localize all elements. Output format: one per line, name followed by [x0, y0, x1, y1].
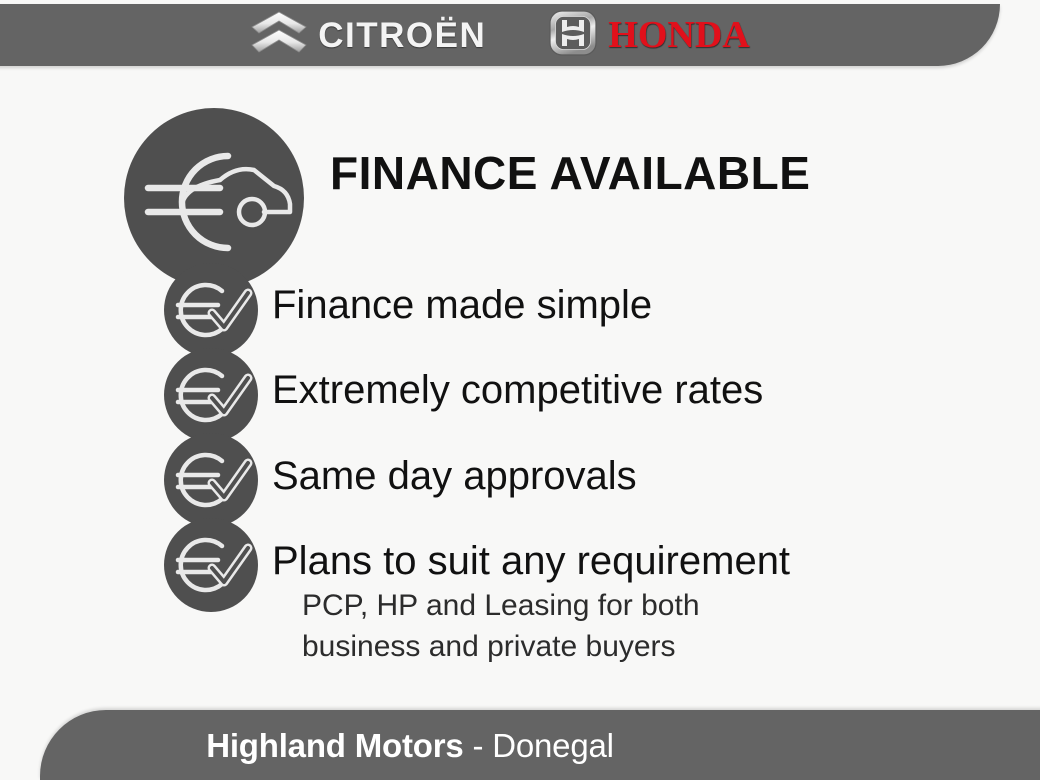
brand-logo-citroen: CITROËN: [250, 10, 486, 61]
finance-available-advert: CITROËN: [0, 0, 1040, 780]
feature-item-label: Extremely competitive rates: [272, 370, 763, 410]
honda-h-emblem-icon: [548, 9, 598, 62]
feature-item-subtext: PCP, HP and Leasing for both business an…: [302, 586, 700, 667]
feature-item-label: Finance made simple: [272, 285, 652, 325]
honda-wordmark: HONDA: [608, 16, 749, 54]
euro-check-icon: [164, 433, 258, 527]
feature-item-label: Same day approvals: [272, 456, 637, 496]
brand-header-bar: CITROËN: [0, 4, 1000, 66]
brand-logo-honda: HONDA: [548, 9, 749, 62]
citroen-chevrons-icon: [250, 10, 308, 61]
dealer-name: Highland Motors: [206, 729, 463, 762]
feature-item-label: Plans to suit any requirement: [272, 541, 790, 581]
citroen-wordmark: CITROËN: [318, 18, 486, 53]
page-title: FINANCE AVAILABLE: [330, 148, 810, 199]
euro-check-icon: [164, 518, 258, 612]
dealer-location: - Donegal: [464, 729, 614, 762]
dealer-name-footer: Highland Motors - Donegal: [40, 710, 780, 780]
euro-check-icon: [164, 263, 258, 357]
euro-car-finance-icon: [124, 108, 304, 288]
footer-bar: Highland Motors - Donegal: [40, 710, 1040, 780]
brand-logo-row: CITROËN: [0, 4, 1000, 66]
euro-check-icon: [164, 348, 258, 442]
